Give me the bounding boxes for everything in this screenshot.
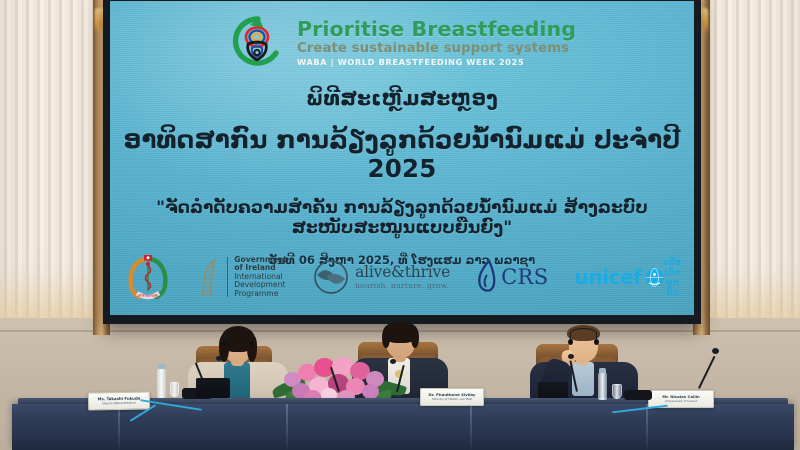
wbw-logo-lockup: Prioritise Breastfeeding Create sustaina…	[228, 13, 576, 73]
alive-thrive-circle-icon	[313, 259, 349, 295]
logo-gov-ireland: Government of Ireland International Deve…	[199, 256, 287, 299]
water-bottle-left	[157, 368, 166, 398]
crs-wordmark: CRS	[501, 265, 548, 289]
placard-center-title: Ministry of Health, Lao PDR	[432, 398, 471, 401]
projection-screen: Prioritise Breastfeeding Create sustaina…	[110, 1, 694, 315]
waba-breastfeeding-logo-icon	[228, 13, 288, 73]
laptop-right	[538, 382, 568, 398]
alive-thrive-wordmark: alive&thrive	[355, 264, 450, 281]
lao-line-1: ພິທີສະເຫຼີມສະຫຼອງ	[110, 86, 694, 110]
table-fold-1	[118, 404, 120, 450]
gov-ireland-line5: Programme	[234, 290, 287, 299]
unicef-globe-icon	[645, 268, 664, 287]
wbw-title: Prioritise Breastfeeding	[297, 19, 576, 41]
water-bottle-right	[598, 372, 607, 400]
panelist-left-headset-icon	[224, 329, 252, 342]
conference-photo: Prioritise Breastfeeding Create sustaina…	[0, 0, 800, 450]
microphone-base-right	[624, 390, 652, 400]
logo-alive-thrive: alive&thrive nourish. nurture. grow.	[313, 259, 450, 295]
wbw-footer: WABA | WORLD BREASTFEEDING WEEK 2025	[297, 58, 576, 67]
microphone-head-right	[568, 354, 574, 359]
projection-screen-frame: Prioritise Breastfeeding Create sustaina…	[103, 0, 701, 324]
placard-left-title: Deputy Representative	[102, 401, 135, 405]
unicef-lao-subtitle: ເພື່ອເດັກທຸກຄົນ	[664, 257, 682, 297]
lao-text-block: ພິທີສະເຫຼີມສະຫຼອງ ອາທິດສາກົນ ການລ້ຽງລູກດ…	[110, 73, 694, 267]
water-glass-left	[170, 382, 179, 397]
alive-thrive-tagline: nourish. nurture. grow.	[355, 282, 450, 290]
lao-line-3-theme: "ຈັດລຳດັບຄວາມສຳຄັນ ການລ້ຽງລູກດ້ວຍນ້ຳນົມແ…	[110, 198, 694, 238]
logo-unicef: unicef ເພື່ອເດັກທຸກຄົນ	[575, 257, 682, 297]
table-fold-4	[646, 404, 648, 450]
water-glass-right	[612, 384, 622, 399]
lao-moh-emblem-icon: ສາທາລະນະສຸກ	[123, 251, 173, 303]
logo-lao-moh: ສາທາລະນະສຸກ	[123, 251, 173, 303]
microphone-head-left	[216, 356, 222, 361]
logo-crs: CRS	[476, 259, 548, 295]
table-fold-3	[470, 404, 472, 450]
irish-harp-icon	[199, 257, 221, 297]
gov-ireland-divider	[227, 257, 229, 297]
partner-logo-strip: ສາທາລະນະສຸກ	[110, 251, 694, 303]
wbw-subtitle: Create sustainable support systems	[297, 42, 576, 56]
panelist-right-headset-icon	[570, 328, 597, 339]
laptop-left	[196, 378, 230, 398]
table-fold-2	[286, 404, 288, 450]
placard-center: Dr. Phouthone Sivilay Ministry of Health…	[420, 388, 484, 406]
microphone-head-center	[390, 359, 396, 364]
conference-table-skirt	[12, 404, 794, 450]
lao-line-2: ອາທິດສາກົນ ການລ້ຽງລູກດ້ວຍນ້ຳນົມແມ່ ປະຈຳປ…	[110, 125, 694, 183]
placard-right-title: Ambassador of Ireland	[665, 400, 698, 403]
unicef-wordmark: unicef	[575, 267, 642, 287]
crs-droplet-icon	[476, 259, 498, 295]
